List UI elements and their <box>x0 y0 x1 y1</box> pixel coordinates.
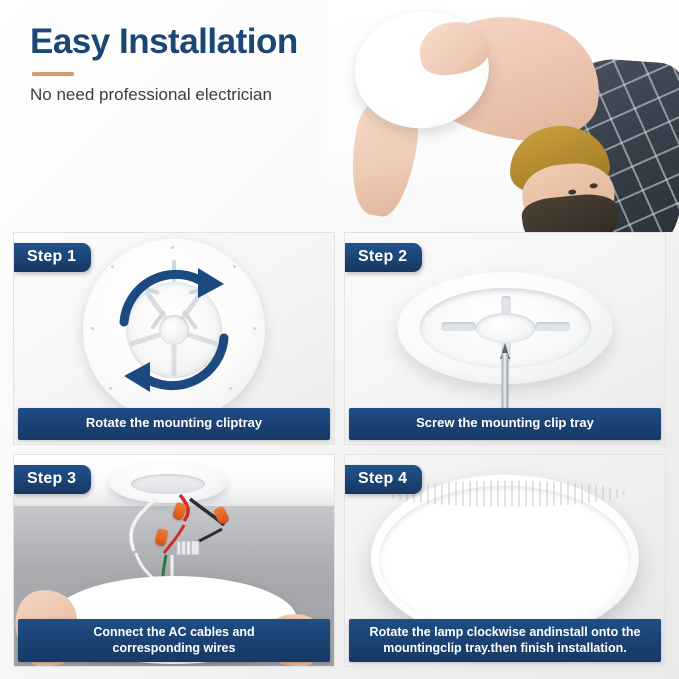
step-caption-1: Rotate the mounting cliptray <box>18 408 330 440</box>
installer-photo <box>327 0 679 232</box>
step-badge-1: Step 1 <box>14 243 91 272</box>
step-panel-4: Step 4 Rotate the lamp clockwise andinst… <box>344 454 666 667</box>
caption-line-2: mountingclip tray.then finish installati… <box>355 640 655 656</box>
step-panel-1: Step 1 Rotate the mounting cliptray <box>13 232 335 445</box>
infographic-page: Easy Installation No need professional e… <box>0 0 679 679</box>
page-title: Easy Installation <box>30 24 298 61</box>
step-panel-2: Step 2 Screw the mounting clip tray <box>344 232 666 445</box>
eye-right <box>589 183 597 189</box>
step-caption-4: Rotate the lamp clockwise andinstall ont… <box>349 619 661 662</box>
step-panel-3: Step 3 Connect the AC cables and corresp… <box>13 454 335 667</box>
caption-line-1: Connect the AC cables and <box>24 624 324 640</box>
eye-left <box>568 189 576 195</box>
step-caption-3: Connect the AC cables and corresponding … <box>18 619 330 662</box>
accent-rule <box>32 72 74 76</box>
tray-hub <box>475 313 535 343</box>
caption-line-2: corresponding wires <box>24 640 324 656</box>
step-caption-2: Screw the mounting clip tray <box>349 408 661 440</box>
page-subtitle: No need professional electrician <box>30 85 298 105</box>
header-section: Easy Installation No need professional e… <box>0 0 679 232</box>
step-badge-4: Step 4 <box>345 465 422 494</box>
step-badge-3: Step 3 <box>14 465 91 494</box>
rotation-arrows-icon <box>94 250 254 410</box>
step-badge-2: Step 2 <box>345 243 422 272</box>
installed-led-ceiling-light <box>371 474 639 640</box>
header-text-block: Easy Installation No need professional e… <box>30 24 298 105</box>
caption-line-1: Rotate the lamp clockwise andinstall ont… <box>355 624 655 640</box>
steps-grid: Step 1 Rotate the mounting cliptray <box>13 232 666 667</box>
